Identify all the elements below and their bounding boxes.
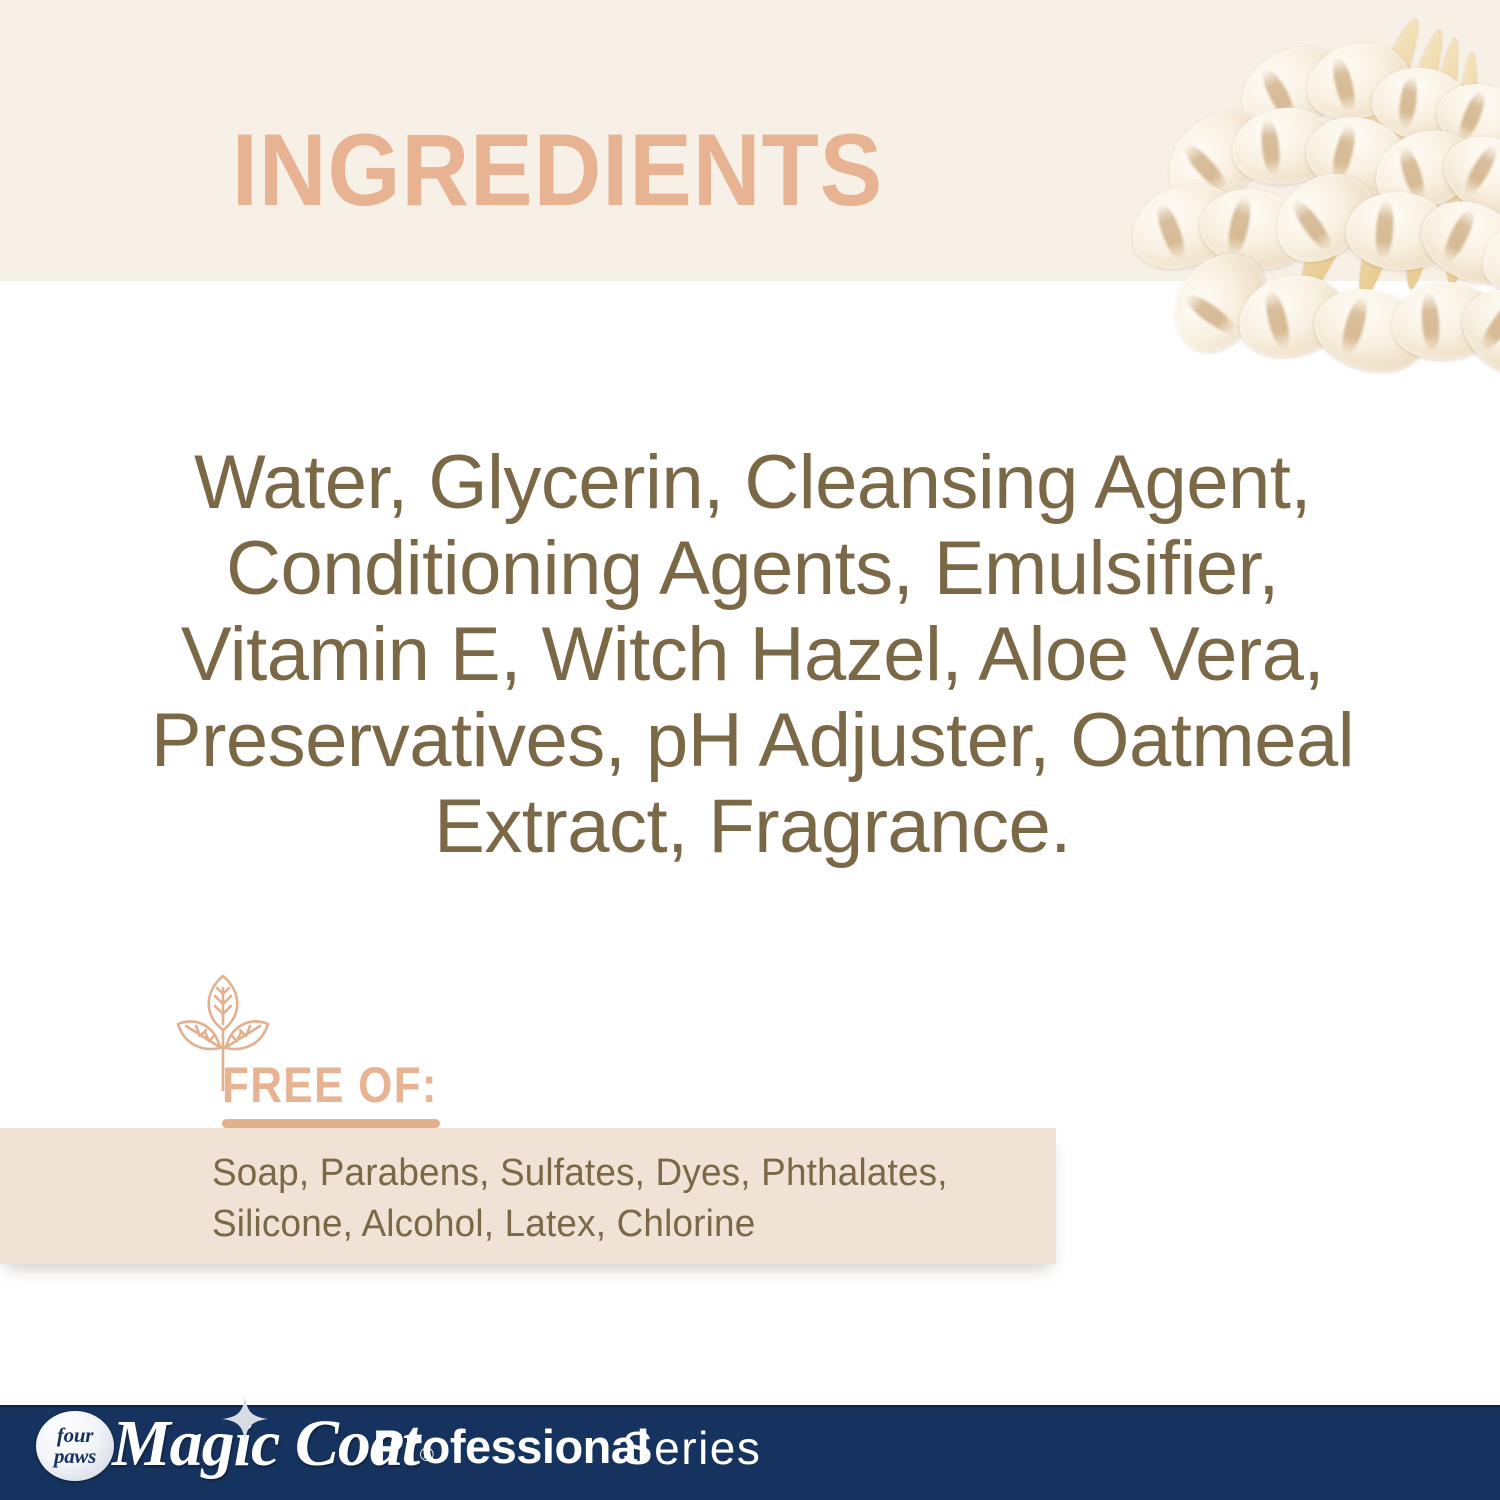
free-of-line: Soap, Parabens, Sulfates, Dyes, Phthalat…	[212, 1148, 1007, 1199]
product-label-page: INGREDIENTS Water, Glycerin, C	[0, 0, 1500, 1500]
free-of-heading: FREE OF:	[222, 1058, 438, 1112]
ingredients-list: Water, Glycerin, Cleansing Agent, Condit…	[60, 440, 1445, 870]
ingredients-line: Vitamin E, Witch Hazel, Aloe Vera,	[181, 612, 1324, 697]
four-paws-logo-badge: four paws	[36, 1411, 114, 1481]
ingredients-line: Extract, Fragrance.	[434, 784, 1071, 869]
ingredients-line: Conditioning Agents, Emulsifier,	[226, 526, 1279, 611]
star-icon	[222, 1396, 268, 1442]
four-paws-line-1: four	[57, 1425, 93, 1446]
four-paws-line-2: paws	[54, 1446, 96, 1467]
page-title: INGREDIENTS	[45, 118, 1071, 222]
free-of-line: Silicone, Alcohol, Latex, Chlorine	[212, 1199, 1007, 1250]
professional-label: Professional	[373, 1421, 649, 1473]
free-of-underline	[222, 1119, 440, 1128]
ingredients-line: Water, Glycerin, Cleansing Agent,	[194, 440, 1311, 525]
series-label: Series	[622, 1422, 761, 1474]
oatmeal-flakes-photo	[1120, 0, 1500, 390]
free-of-list: Soap, Parabens, Sulfates, Dyes, Phthalat…	[212, 1148, 1007, 1250]
ingredients-line: Preservatives, pH Adjuster, Oatmeal	[151, 698, 1354, 783]
